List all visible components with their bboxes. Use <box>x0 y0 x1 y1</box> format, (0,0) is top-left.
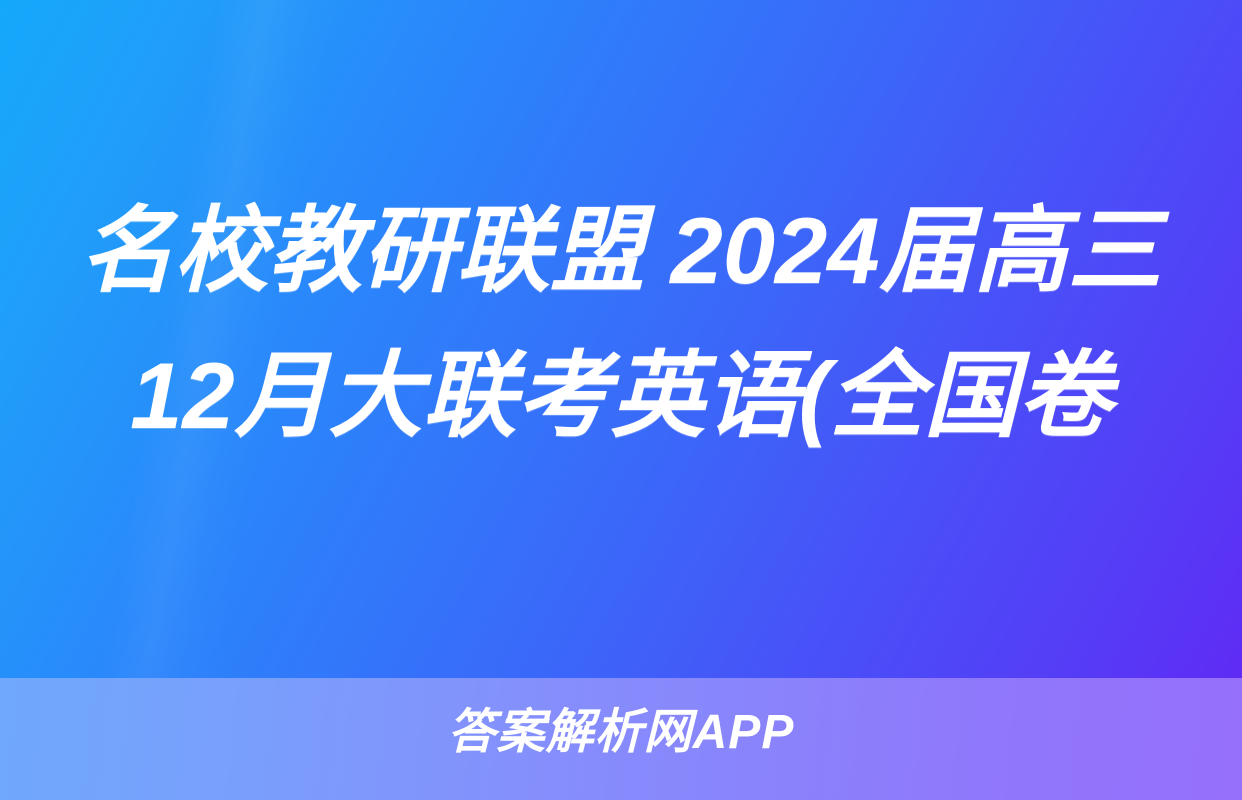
poster-cover: 名校教研联盟 2024届高三12月大联考英语(全国卷 答案解析网APP <box>0 0 1242 800</box>
page-title: 名校教研联盟 2024届高三12月大联考英语(全国卷 <box>0 178 1242 468</box>
app-watermark: 答案解析网APP <box>0 702 1242 764</box>
